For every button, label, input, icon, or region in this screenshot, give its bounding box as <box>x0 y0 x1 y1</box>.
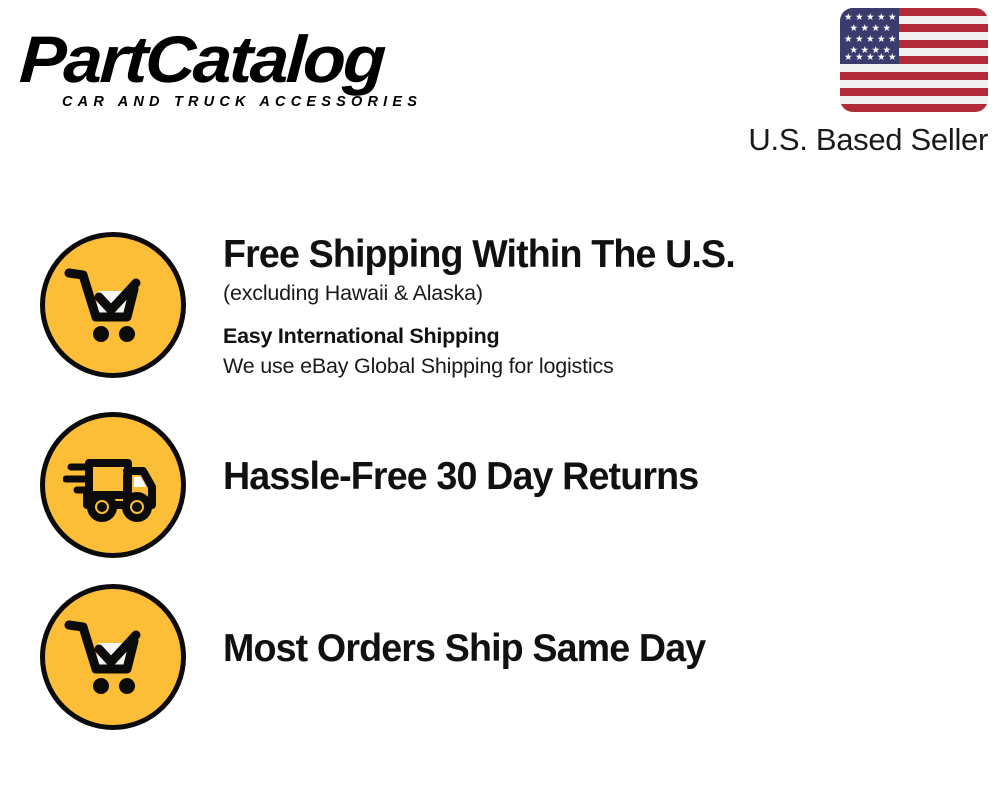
feature-badge-returns <box>40 412 190 562</box>
delivery-truck-icon <box>63 435 163 535</box>
feature-text-free-shipping: Free Shipping Within The U.S. (excluding… <box>190 232 990 381</box>
feature-title: Most Orders Ship Same Day <box>223 626 963 672</box>
us-based-seller-badge: ★ ★ ★ ★ ★ ★ ★ ★ ★ ★ ★ ★ ★ ★ ★ ★ ★ ★ ★ ★ <box>718 8 988 157</box>
feature-badge-same-day <box>40 584 190 734</box>
shopping-cart-check-icon <box>63 607 163 707</box>
badge-circle <box>40 412 186 558</box>
us-based-seller-label: U.S. Based Seller <box>718 123 988 157</box>
shopping-cart-check-icon <box>63 255 163 355</box>
badge-circle <box>40 584 186 730</box>
feature-title: Free Shipping Within The U.S. <box>223 232 963 278</box>
flag-canton: ★ ★ ★ ★ ★ ★ ★ ★ ★ ★ ★ ★ ★ ★ ★ ★ ★ ★ ★ ★ <box>840 8 899 64</box>
page-header: PartCatalog CAR AND TRUCK ACCESSORIES <box>0 0 1000 170</box>
brand-logo[interactable]: PartCatalog CAR AND TRUCK ACCESSORIES <box>22 22 492 118</box>
feature-badge-free-shipping <box>40 232 190 382</box>
feature-row-same-day-shipping: Most Orders Ship Same Day <box>40 584 990 734</box>
feature-row-free-shipping: Free Shipping Within The U.S. (excluding… <box>40 232 990 382</box>
brand-tagline: CAR AND TRUCK ACCESSORIES <box>62 94 492 110</box>
feature-secondary-subtitle: We use eBay Global Shipping for logistic… <box>223 351 990 381</box>
us-flag-icon: ★ ★ ★ ★ ★ ★ ★ ★ ★ ★ ★ ★ ★ ★ ★ ★ ★ ★ ★ ★ <box>840 8 988 112</box>
brand-wordmark: PartCatalog <box>18 22 520 96</box>
feature-secondary-title: Easy International Shipping <box>223 321 990 351</box>
feature-row-returns: Hassle-Free 30 Day Returns <box>40 412 990 562</box>
badge-circle <box>40 232 186 378</box>
feature-text-same-day: Most Orders Ship Same Day <box>190 584 990 672</box>
feature-text-returns: Hassle-Free 30 Day Returns <box>190 412 990 500</box>
feature-title: Hassle-Free 30 Day Returns <box>223 454 963 500</box>
feature-subtitle: (excluding Hawaii & Alaska) <box>223 278 990 308</box>
